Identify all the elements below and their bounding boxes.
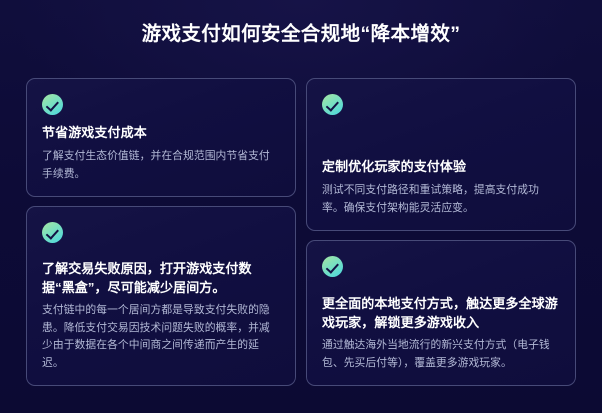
feature-card-failure-reasons: 了解交易失败原因，打开游戏支付数据“黑盒”，尽可能减少居间方。 支付链中的每一个…: [26, 206, 296, 386]
card-text-block: 节省游戏支付成本 了解支付生态价值链，并在合规范围内节省支付手续费。: [42, 124, 280, 196]
card-body: 支付链中的每一个居间方都是导致支付失败的隐患。降低支付交易因技术问题失败的概率，…: [42, 302, 280, 372]
card-heading: 节省游戏支付成本: [42, 124, 280, 142]
check-circle-icon: [322, 94, 343, 115]
card-body: 通过触达海外当地流行的新兴支付方式（电子钱包、先买后付等），覆盖更多游戏玩家。: [322, 337, 560, 372]
check-circle-icon: [322, 256, 343, 277]
promo-panel: 游戏支付如何安全合规地“降本增效” 节省游戏支付成本 了解支付生态价值链，并在合…: [0, 0, 602, 413]
card-body: 测试不同支付路径和重试策略，提高支付成功率。确保支付架构能灵活应变。: [322, 182, 560, 217]
card-text-block: 更全面的本地支付方式，触达更多全球游戏玩家，解锁更多游戏收入 通过触达海外当地流…: [322, 295, 560, 385]
card-body: 了解支付生态价值链，并在合规范围内节省支付手续费。: [42, 148, 280, 183]
card-heading: 更全面的本地支付方式，触达更多全球游戏玩家，解锁更多游戏收入: [322, 295, 560, 332]
card-text-block: 了解交易失败原因，打开游戏支付数据“黑盒”，尽可能减少居间方。 支付链中的每一个…: [42, 260, 280, 385]
card-text-block: 定制优化玩家的支付体验 测试不同支付路径和重试策略，提高支付成功率。确保支付架构…: [322, 158, 560, 230]
card-heading: 定制优化玩家的支付体验: [322, 158, 560, 176]
feature-card-local-payment-methods: 更全面的本地支付方式，触达更多全球游戏玩家，解锁更多游戏收入 通过触达海外当地流…: [306, 240, 576, 386]
page-title: 游戏支付如何安全合规地“降本增效”: [0, 25, 602, 45]
card-heading: 了解交易失败原因，打开游戏支付数据“黑盒”，尽可能减少居间方。: [42, 260, 280, 297]
feature-card-player-experience: 定制优化玩家的支付体验 测试不同支付路径和重试策略，提高支付成功率。确保支付架构…: [306, 78, 576, 231]
feature-card-cost-saving: 节省游戏支付成本 了解支付生态价值链，并在合规范围内节省支付手续费。: [26, 78, 296, 197]
check-circle-icon: [42, 222, 63, 243]
check-circle-icon: [42, 94, 63, 115]
